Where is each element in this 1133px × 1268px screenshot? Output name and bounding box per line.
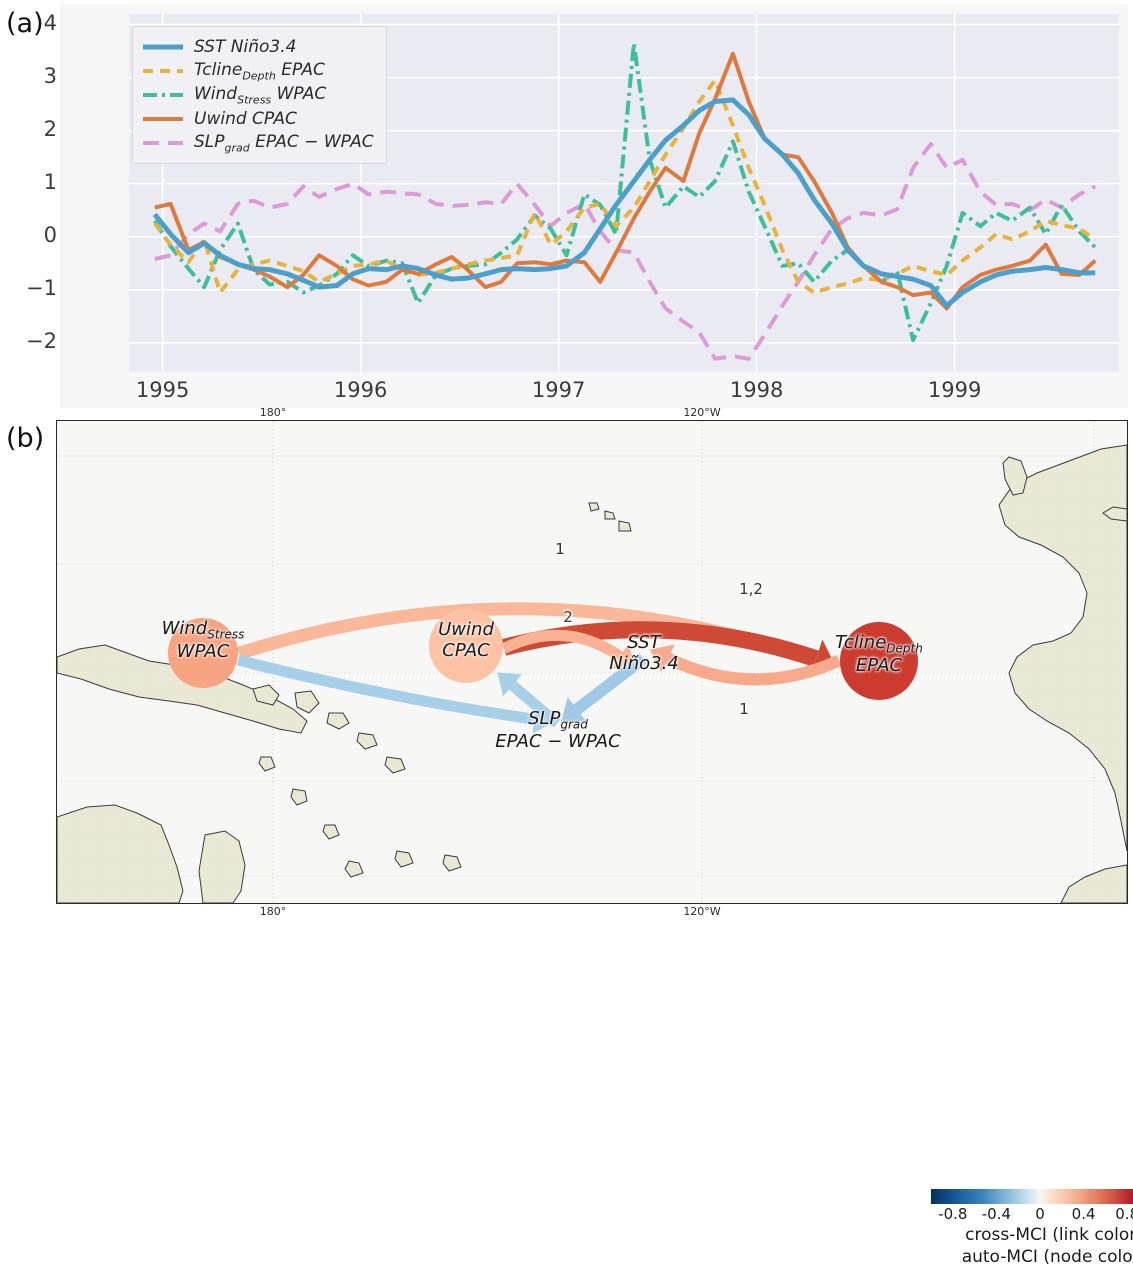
legend-swatch — [142, 59, 184, 83]
x-tick-label: 1996 — [334, 378, 387, 402]
y-tick-label: −2 — [5, 329, 57, 353]
link-lag-label: 1,2 — [739, 580, 763, 598]
colorbar-gradient — [931, 1189, 1133, 1204]
legend-item: WindStress WPAC — [142, 83, 374, 107]
timeseries-panel: 43210−1−2 19951996199719981999 SST Niño3… — [60, 4, 1128, 408]
colorbar-tick-label: 0 — [1035, 1205, 1045, 1223]
colorbar-tick-label: 0.8 — [1115, 1205, 1133, 1223]
legend-swatch — [142, 83, 184, 107]
legend-item: SST Niño3.4 — [142, 35, 374, 59]
causal-network-map-panel: 180°120°W 180°120°W WindStressWPACUwindC… — [56, 420, 1128, 904]
link-lag-label: 1 — [555, 540, 565, 558]
legend-label: SLPgrad EPAC − WPAC — [194, 132, 374, 154]
y-tick-label: 4 — [5, 11, 57, 35]
x-tick-label: 1998 — [730, 378, 783, 402]
legend-label: Uwind CPAC — [194, 109, 297, 129]
colorbar-tick-label: -0.8 — [938, 1205, 967, 1223]
legend-label: WindStress WPAC — [194, 84, 326, 106]
legend-swatch — [142, 35, 184, 59]
colorbar-caption-node: auto-MCI (node color) — [931, 1246, 1133, 1268]
legend-item: TclineDepth EPAC — [142, 59, 374, 83]
y-tick-label: 1 — [5, 170, 57, 194]
x-tick-label: 1995 — [136, 378, 189, 402]
link-lag-label: 2 — [563, 608, 573, 626]
lon-label-top: 180° — [260, 406, 287, 419]
lon-label-bottom: 120°W — [683, 905, 720, 918]
legend-swatch — [142, 107, 184, 131]
lon-label-bottom: 180° — [260, 905, 287, 918]
y-tick-label: 0 — [5, 223, 57, 247]
node-label-uwind-cpac: UwindCPAC — [438, 620, 494, 661]
y-tick-label: 2 — [5, 117, 57, 141]
node-label-slp-grad-epac-wpac: SLPgradEPAC − WPAC — [495, 709, 620, 753]
colorbar-tick-label: -0.4 — [982, 1205, 1011, 1223]
colorbar-ticks: -0.8-0.400.40.8 — [931, 1204, 1133, 1224]
node-label-wind-stress-wpac: WindStressWPAC — [162, 619, 245, 663]
lon-label-top: 120°W — [683, 406, 720, 419]
chart-legend: SST Niño3.4TclineDepth EPACWindStress WP… — [132, 26, 387, 164]
colorbar-caption-link: cross-MCI (link color) — [931, 1224, 1133, 1246]
panel-b-label: (b) — [6, 423, 44, 454]
legend-item: Uwind CPAC — [142, 107, 374, 131]
y-tick-label: −1 — [5, 276, 57, 300]
legend-item: SLPgrad EPAC − WPAC — [142, 131, 374, 155]
x-tick-label: 1997 — [532, 378, 585, 402]
legend-label: SST Niño3.4 — [194, 37, 296, 57]
colorbar-tick-label: 0.4 — [1072, 1205, 1096, 1223]
legend-label: TclineDepth EPAC — [194, 60, 325, 82]
legend-swatch — [142, 131, 184, 155]
x-tick-label: 1999 — [928, 378, 981, 402]
colorbar: -0.8-0.400.40.8 cross-MCI (link color) a… — [931, 1189, 1133, 1268]
node-label-sst-nino34: SSTNiño3.4 — [609, 633, 679, 674]
y-tick-label: 3 — [5, 64, 57, 88]
node-label-tcline-depth-epac: TclineDepthEPAC — [835, 633, 923, 677]
link-lag-label: 1 — [739, 700, 749, 718]
